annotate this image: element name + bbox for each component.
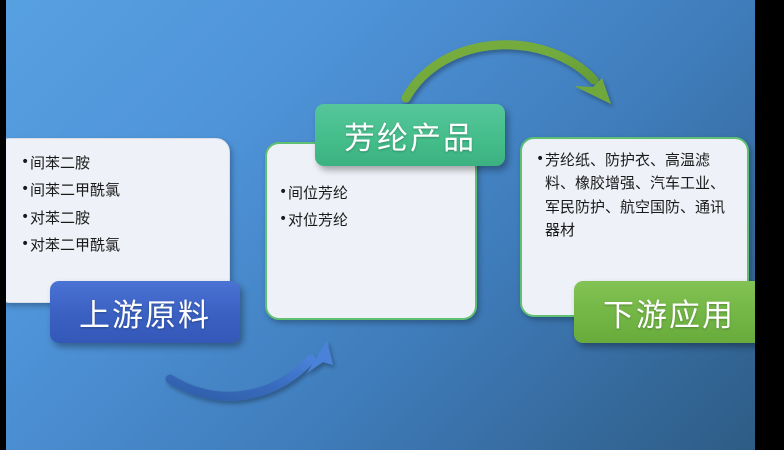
stage-banner-upstream[interactable]: 上游原料 — [50, 281, 240, 343]
card-downstream-body: • 芳纶纸、防护衣、高温滤料、橡胶增强、汽车工业、军民防护、航空国防、通讯器材 — [522, 139, 747, 254]
arrow-upstream-to-products — [170, 340, 333, 396]
card-upstream: • 间苯二胺 • 间苯二甲酰氯 • 对苯二胺 • 对苯二甲酰氯 — [6, 138, 230, 303]
card-upstream-body: • 间苯二胺 • 间苯二甲酰氯 • 对苯二胺 • 对苯二甲酰氯 — [6, 139, 229, 269]
list-item-label: 间位芳纶 — [288, 182, 463, 205]
bullet-icon: • — [279, 209, 288, 230]
arrow-products-to-downstream — [406, 45, 611, 104]
stage-banner-downstream-label: 下游应用 — [603, 290, 735, 335]
stage-banner-products[interactable]: 芳纶产品 — [315, 104, 505, 166]
list-item: • 对位芳纶 — [279, 209, 463, 232]
slide-canvas: • 间苯二胺 • 间苯二甲酰氯 • 对苯二胺 • 对苯二甲酰氯 • 间位芳纶 — [6, 0, 755, 450]
list-item: • 间苯二甲酰氯 — [21, 179, 217, 202]
list-item: • 间苯二胺 — [21, 152, 217, 175]
stage-banner-downstream[interactable]: 下游应用 — [574, 281, 755, 343]
list-item-label: 间苯二胺 — [30, 152, 217, 175]
bullet-icon: • — [279, 182, 288, 203]
bullet-icon: • — [21, 234, 30, 255]
bullet-icon: • — [21, 207, 30, 228]
bullet-icon: • — [21, 152, 30, 173]
list-item-label: 间苯二甲酰氯 — [30, 179, 217, 202]
list-item: • 对苯二甲酰氯 — [21, 234, 217, 257]
list-item-label: 对苯二胺 — [30, 207, 217, 230]
bullet-icon: • — [536, 149, 545, 170]
list-item: • 对苯二胺 — [21, 207, 217, 230]
list-item: • 间位芳纶 — [279, 182, 463, 205]
stage-banner-products-label: 芳纶产品 — [344, 113, 476, 158]
list-item-label: 对位芳纶 — [288, 209, 463, 232]
bullet-icon: • — [21, 179, 30, 200]
card-products: • 间位芳纶 • 对位芳纶 — [265, 142, 477, 320]
list-item-label: 对苯二甲酰氯 — [30, 234, 217, 257]
list-item: • 芳纶纸、防护衣、高温滤料、橡胶增强、汽车工业、军民防护、航空国防、通讯器材 — [536, 149, 735, 242]
stage-banner-upstream-label: 上游原料 — [79, 290, 211, 335]
list-item-label: 芳纶纸、防护衣、高温滤料、橡胶增强、汽车工业、军民防护、航空国防、通讯器材 — [545, 149, 735, 242]
